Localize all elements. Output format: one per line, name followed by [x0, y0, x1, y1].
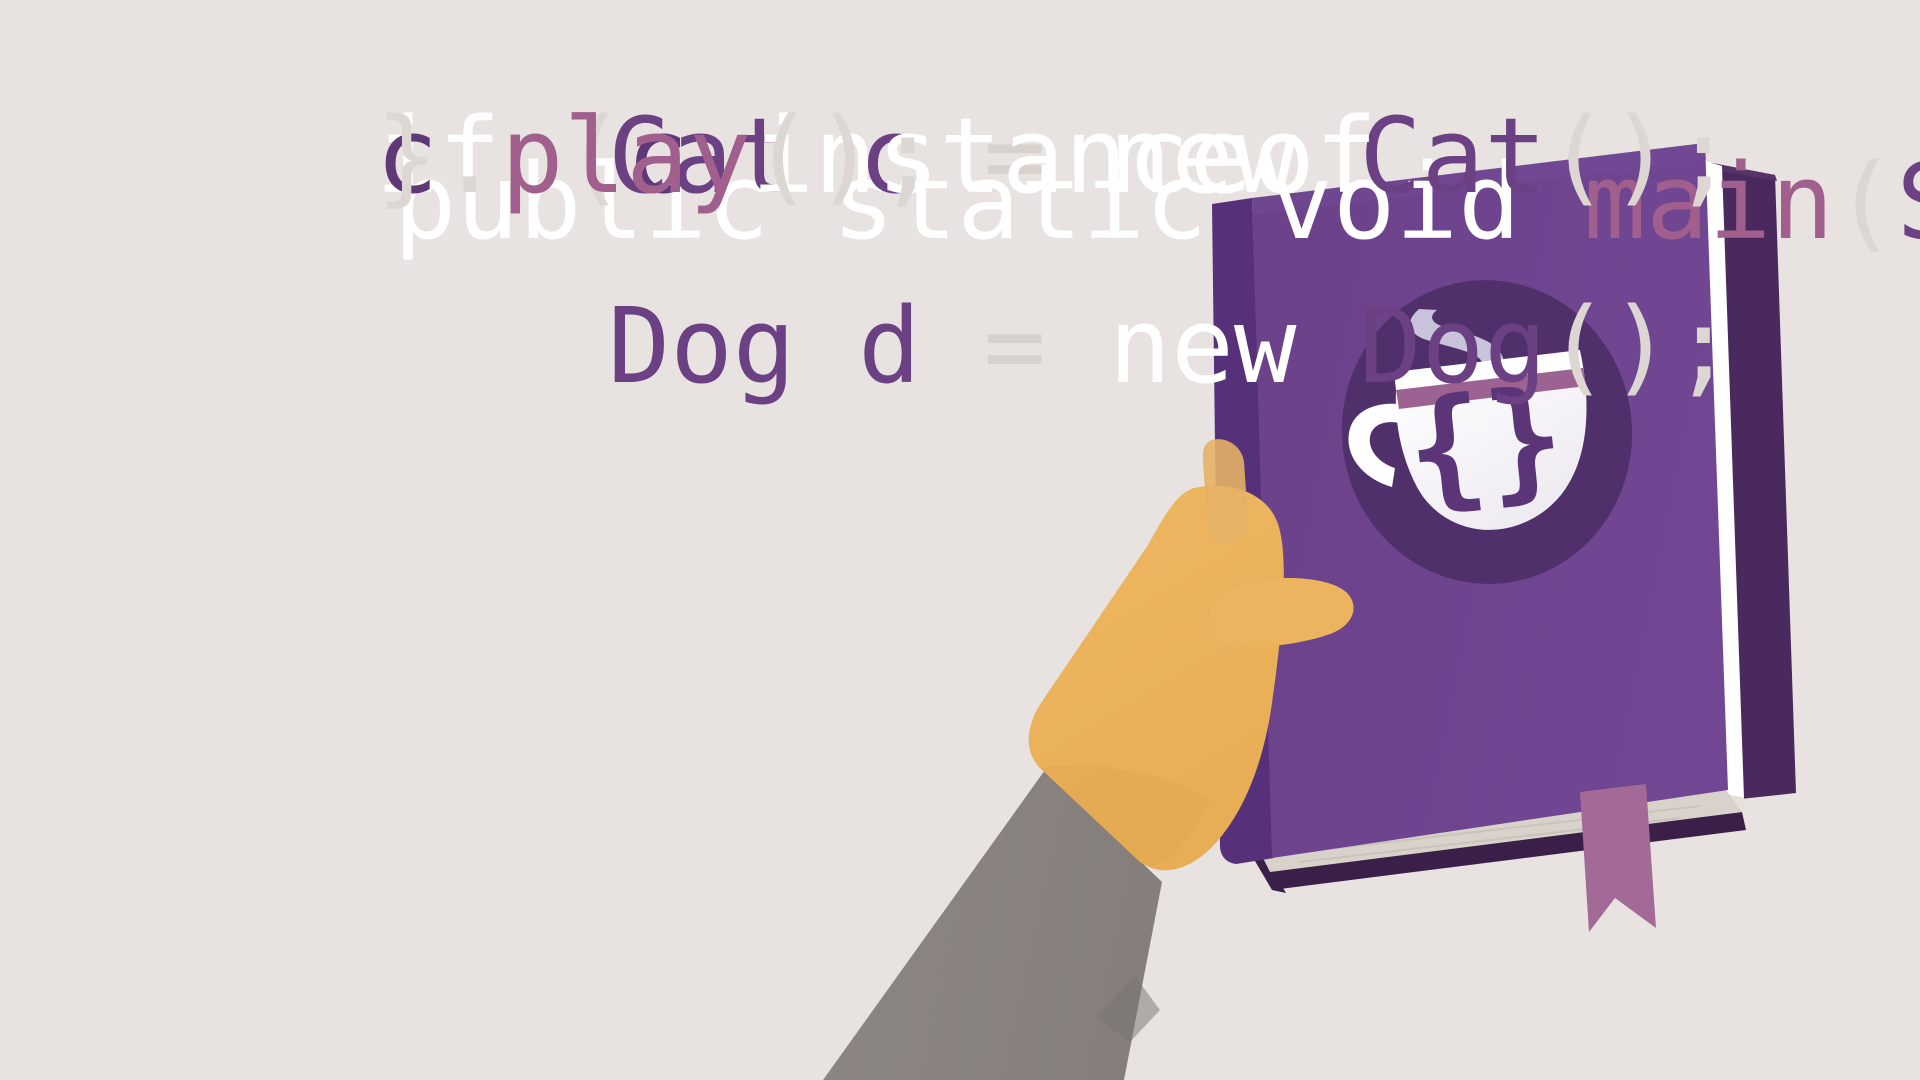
ribbon-bookmark — [1580, 784, 1656, 932]
thumb — [1203, 439, 1248, 544]
book-and-hand-illustration: {} — [0, 0, 1920, 1080]
illustration-canvas: public static void main(String[] args Do… — [0, 0, 1920, 1080]
curly-braces-glyph: {} — [1399, 359, 1571, 527]
